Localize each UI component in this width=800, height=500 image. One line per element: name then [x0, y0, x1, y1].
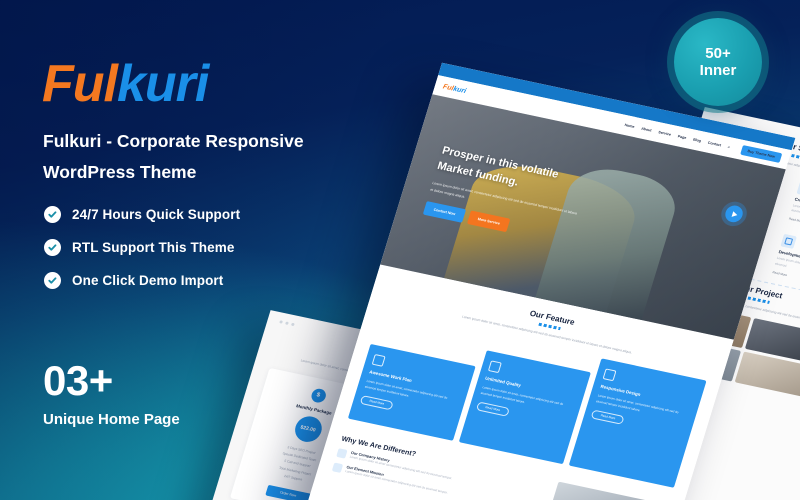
feature-card[interactable]: Responsive Design Lorem ipsum dolor sit … — [569, 358, 706, 487]
nav-item-page[interactable]: Page — [677, 134, 687, 140]
mockup-logo-part2: kuri — [452, 85, 467, 94]
counter-number: 03+ — [43, 360, 180, 402]
hero-contact-button[interactable]: Contact Now — [423, 201, 466, 223]
feature-list-item: RTL Support This Theme — [44, 239, 240, 256]
feature-card[interactable]: Unlimited Quality Lorem ipsum dolor sit … — [459, 350, 592, 464]
check-circle-icon — [44, 239, 61, 256]
section-underline — [747, 296, 769, 303]
inner-pages-badge: 50+ Inner — [674, 18, 762, 106]
mockup-logo[interactable]: Fulkuri — [442, 83, 467, 95]
dev-icon — [780, 234, 797, 249]
badge-count: 50+ — [705, 45, 730, 62]
quality-icon — [488, 360, 502, 373]
idea-icon — [797, 181, 800, 196]
nav-item-contact[interactable]: Contact — [707, 141, 721, 148]
check-circle-icon — [44, 206, 61, 223]
plan-icon — [372, 354, 386, 367]
section-underline — [790, 154, 800, 161]
feature-list-label: 24/7 Hours Quick Support — [72, 207, 240, 222]
counter-label: Unique Home Page — [43, 411, 180, 428]
section-underline — [538, 323, 560, 330]
feature-list-label: RTL Support This Theme — [72, 240, 234, 255]
nav-item-about[interactable]: About — [641, 127, 652, 133]
brand-logo-part1: Ful — [42, 55, 117, 113]
search-icon[interactable]: ⌕ — [727, 145, 730, 149]
page-title: Fulkuri - Corporate Responsive WordPress… — [43, 126, 363, 188]
check-circle-icon — [44, 272, 61, 289]
feature-list-item: One Click Demo Import — [44, 272, 240, 289]
brand-logo-part2: kuri — [117, 55, 208, 113]
feature-card-button[interactable]: Read More — [591, 409, 625, 424]
brand-logo: Fulkuri — [42, 58, 208, 110]
nav-item-home[interactable]: Home — [624, 123, 635, 129]
nav-item-blog[interactable]: Blog — [693, 138, 702, 143]
feature-card-button[interactable]: Read More — [476, 401, 510, 416]
play-icon[interactable] — [723, 204, 745, 224]
project-photo[interactable] — [735, 352, 800, 403]
design-icon — [603, 368, 617, 381]
left-content-panel: Fulkuri Fulkuri - Corporate Responsive W… — [40, 0, 370, 500]
nav-item-service[interactable]: Service — [658, 130, 672, 136]
feature-list: 24/7 Hours Quick Support RTL Support Thi… — [44, 206, 240, 305]
feature-list-item: 24/7 Hours Quick Support — [44, 206, 240, 223]
feature-list-label: One Click Demo Import — [72, 273, 223, 288]
badge-label: Inner — [700, 62, 737, 79]
counter-block: 03+ Unique Home Page — [43, 360, 180, 428]
